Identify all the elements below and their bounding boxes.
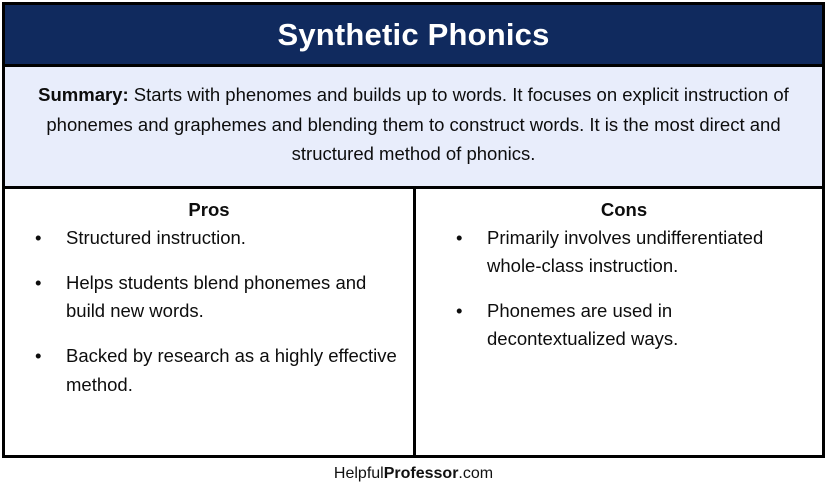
summary-label: Summary: bbox=[38, 84, 128, 105]
cons-list: • Primarily involves undifferentiated wh… bbox=[440, 224, 808, 353]
pros-column: Pros • Structured instruction. • Helps s… bbox=[5, 189, 416, 455]
list-item: • Structured instruction. bbox=[19, 224, 399, 252]
cons-heading: Cons bbox=[440, 198, 808, 221]
pros-list: • Structured instruction. • Helps studen… bbox=[19, 224, 399, 399]
brand-prefix: Helpful bbox=[334, 465, 384, 482]
list-item-text: Primarily involves undifferentiated whol… bbox=[487, 224, 808, 280]
footer-branding: HelpfulProfessor.com bbox=[0, 464, 827, 483]
cons-column: Cons • Primarily involves undifferentiat… bbox=[416, 189, 822, 455]
pros-cons-table: Synthetic Phonics Summary: Starts with p… bbox=[2, 2, 825, 458]
list-item: • Helps students blend phonemes and buil… bbox=[19, 269, 399, 325]
bullet-icon: • bbox=[456, 297, 462, 325]
bullet-icon: • bbox=[35, 269, 41, 297]
title-bar: Synthetic Phonics bbox=[5, 5, 822, 67]
summary-band: Summary: Starts with phenomes and builds… bbox=[5, 67, 822, 189]
synthetic-phonics-infographic: Synthetic Phonics Summary: Starts with p… bbox=[0, 0, 827, 502]
bullet-icon: • bbox=[35, 224, 41, 252]
pros-cons-columns: Pros • Structured instruction. • Helps s… bbox=[5, 189, 822, 455]
bullet-icon: • bbox=[456, 224, 462, 252]
summary-body: Starts with phenomes and builds up to wo… bbox=[46, 84, 788, 165]
list-item-text: Backed by research as a highly effective… bbox=[66, 342, 399, 398]
pros-heading: Pros bbox=[19, 198, 399, 221]
brand-name: Professor bbox=[384, 465, 459, 482]
list-item: • Backed by research as a highly effecti… bbox=[19, 342, 399, 398]
page-title: Synthetic Phonics bbox=[277, 19, 549, 50]
list-item: • Phonemes are used in decontextualized … bbox=[440, 297, 808, 353]
list-item-text: Helps students blend phonemes and build … bbox=[66, 269, 399, 325]
list-item-text: Structured instruction. bbox=[66, 224, 399, 252]
summary-text: Summary: Starts with phenomes and builds… bbox=[35, 80, 792, 170]
list-item: • Primarily involves undifferentiated wh… bbox=[440, 224, 808, 280]
bullet-icon: • bbox=[35, 342, 41, 370]
list-item-text: Phonemes are used in decontextualized wa… bbox=[487, 297, 808, 353]
brand-suffix: .com bbox=[458, 465, 493, 482]
